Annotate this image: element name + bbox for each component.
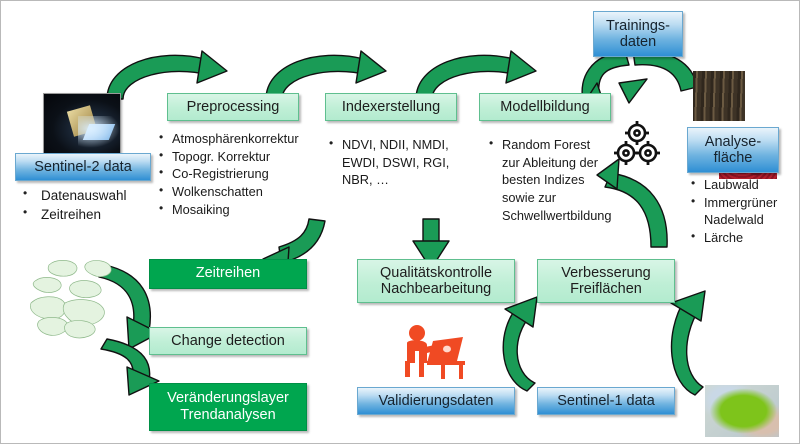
node-validierungsdaten-label: Validierungsdaten bbox=[378, 393, 493, 409]
sentinel2-satellite-thumbnail bbox=[43, 93, 121, 155]
modellbildung-bullets: Random Forest zur Ableitung der besten I… bbox=[487, 137, 627, 225]
node-veraenderungslayer-label-line2: Trendanalysen bbox=[180, 407, 275, 424]
node-trainingsdaten-label-line1: Trainings- bbox=[606, 18, 670, 34]
node-qualitaetskontrolle-label-line2: Nachbearbeitung bbox=[381, 281, 491, 297]
node-modellbildung[interactable]: Modellbildung bbox=[479, 93, 611, 121]
list-item: EWDI, DSWI, RGI, bbox=[327, 155, 477, 172]
gears-icon bbox=[611, 119, 663, 171]
node-trainingsdaten[interactable]: Trainings- daten bbox=[593, 11, 683, 57]
node-veraenderungslayer[interactable]: Veränderungslayer Trendanalysen bbox=[149, 383, 307, 431]
list-item: Lärche bbox=[689, 230, 795, 247]
list-item: Immergrüner bbox=[689, 195, 795, 212]
node-preprocessing-label: Preprocessing bbox=[187, 99, 280, 115]
node-sentinel2-label: Sentinel-2 data bbox=[34, 159, 132, 175]
list-item: zur Ableitung der bbox=[487, 155, 627, 172]
list-item: Wolkenschatten bbox=[157, 184, 317, 201]
node-sentinel1-data[interactable]: Sentinel-1 data bbox=[537, 387, 675, 415]
node-sentinel2-data[interactable]: Sentinel-2 data bbox=[15, 153, 151, 181]
node-analyseflaeche-label-line2: fläche bbox=[714, 150, 753, 166]
analyseflaeche-bullets: Laubwald Immergrüner Nadelwald Lärche bbox=[689, 177, 795, 248]
node-qualitaetskontrolle[interactable]: Qualitätskontrolle Nachbearbeitung bbox=[357, 259, 515, 303]
node-verbesserung-freiflaechen[interactable]: Verbesserung Freiflächen bbox=[537, 259, 675, 303]
indexerstellung-bullets: NDVI, NDII, NMDI, EWDI, DSWI, RGI, NBR, … bbox=[327, 137, 477, 190]
list-item: Schwellwertbildung bbox=[487, 208, 627, 225]
node-verbesserung-label-line1: Verbesserung bbox=[561, 265, 650, 281]
node-change-detection-label: Change detection bbox=[171, 333, 285, 349]
list-item: NDVI, NDII, NMDI, bbox=[327, 137, 477, 154]
node-change-detection[interactable]: Change detection bbox=[149, 327, 307, 355]
node-verbesserung-label-line2: Freiflächen bbox=[570, 281, 642, 297]
node-indexerstellung[interactable]: Indexerstellung bbox=[325, 93, 457, 121]
list-item: Atmosphärenkorrektur bbox=[157, 131, 317, 148]
node-zeitreihen-label: Zeitreihen bbox=[196, 265, 260, 282]
arrow-validierungsdaten-to-qualitaetskontrolle bbox=[497, 287, 557, 399]
list-item: Zeitreihen bbox=[19, 206, 159, 224]
node-modellbildung-label: Modellbildung bbox=[500, 99, 589, 115]
person-at-laptop-icon bbox=[397, 319, 469, 381]
node-indexerstellung-label: Indexerstellung bbox=[342, 99, 440, 115]
analyseflaeche-map-thumbnail bbox=[705, 385, 779, 437]
node-preprocessing[interactable]: Preprocessing bbox=[167, 93, 299, 121]
list-item: sowie zur bbox=[487, 190, 627, 207]
list-item: Random Forest bbox=[487, 137, 627, 154]
list-item: Topogr. Korrektur bbox=[157, 149, 317, 166]
trainingsdaten-forest-thumbnail bbox=[693, 71, 745, 121]
node-analyseflaeche[interactable]: Analyse- fläche bbox=[687, 127, 779, 173]
node-trainingsdaten-label-line2: daten bbox=[620, 34, 656, 50]
node-veraenderungslayer-label-line1: Veränderungslayer bbox=[167, 390, 289, 407]
node-validierungsdaten[interactable]: Validierungsdaten bbox=[357, 387, 515, 415]
list-item: NBR, … bbox=[327, 172, 477, 189]
list-item: Nadelwald bbox=[689, 212, 795, 229]
node-zeitreihen[interactable]: Zeitreihen bbox=[149, 259, 307, 289]
list-item: besten Indizes bbox=[487, 172, 627, 189]
node-sentinel1-label: Sentinel-1 data bbox=[557, 393, 655, 409]
list-item: Laubwald bbox=[689, 177, 795, 194]
preprocessing-bullets: Atmosphärenkorrektur Topogr. Korrektur C… bbox=[157, 131, 317, 219]
list-item: Co-Registrierung bbox=[157, 166, 317, 183]
sentinel2-bullets: Datenauswahl Zeitreihen bbox=[19, 187, 159, 224]
saxony-outline-map bbox=[25, 253, 137, 345]
node-qualitaetskontrolle-label-line1: Qualitätskontrolle bbox=[380, 265, 492, 281]
diagram-canvas: Sentinel-2 data Datenauswahl Zeitreihen … bbox=[0, 0, 800, 444]
list-item: Mosaiking bbox=[157, 202, 317, 219]
list-item: Datenauswahl bbox=[19, 187, 159, 205]
node-analyseflaeche-label-line1: Analyse- bbox=[705, 134, 761, 150]
